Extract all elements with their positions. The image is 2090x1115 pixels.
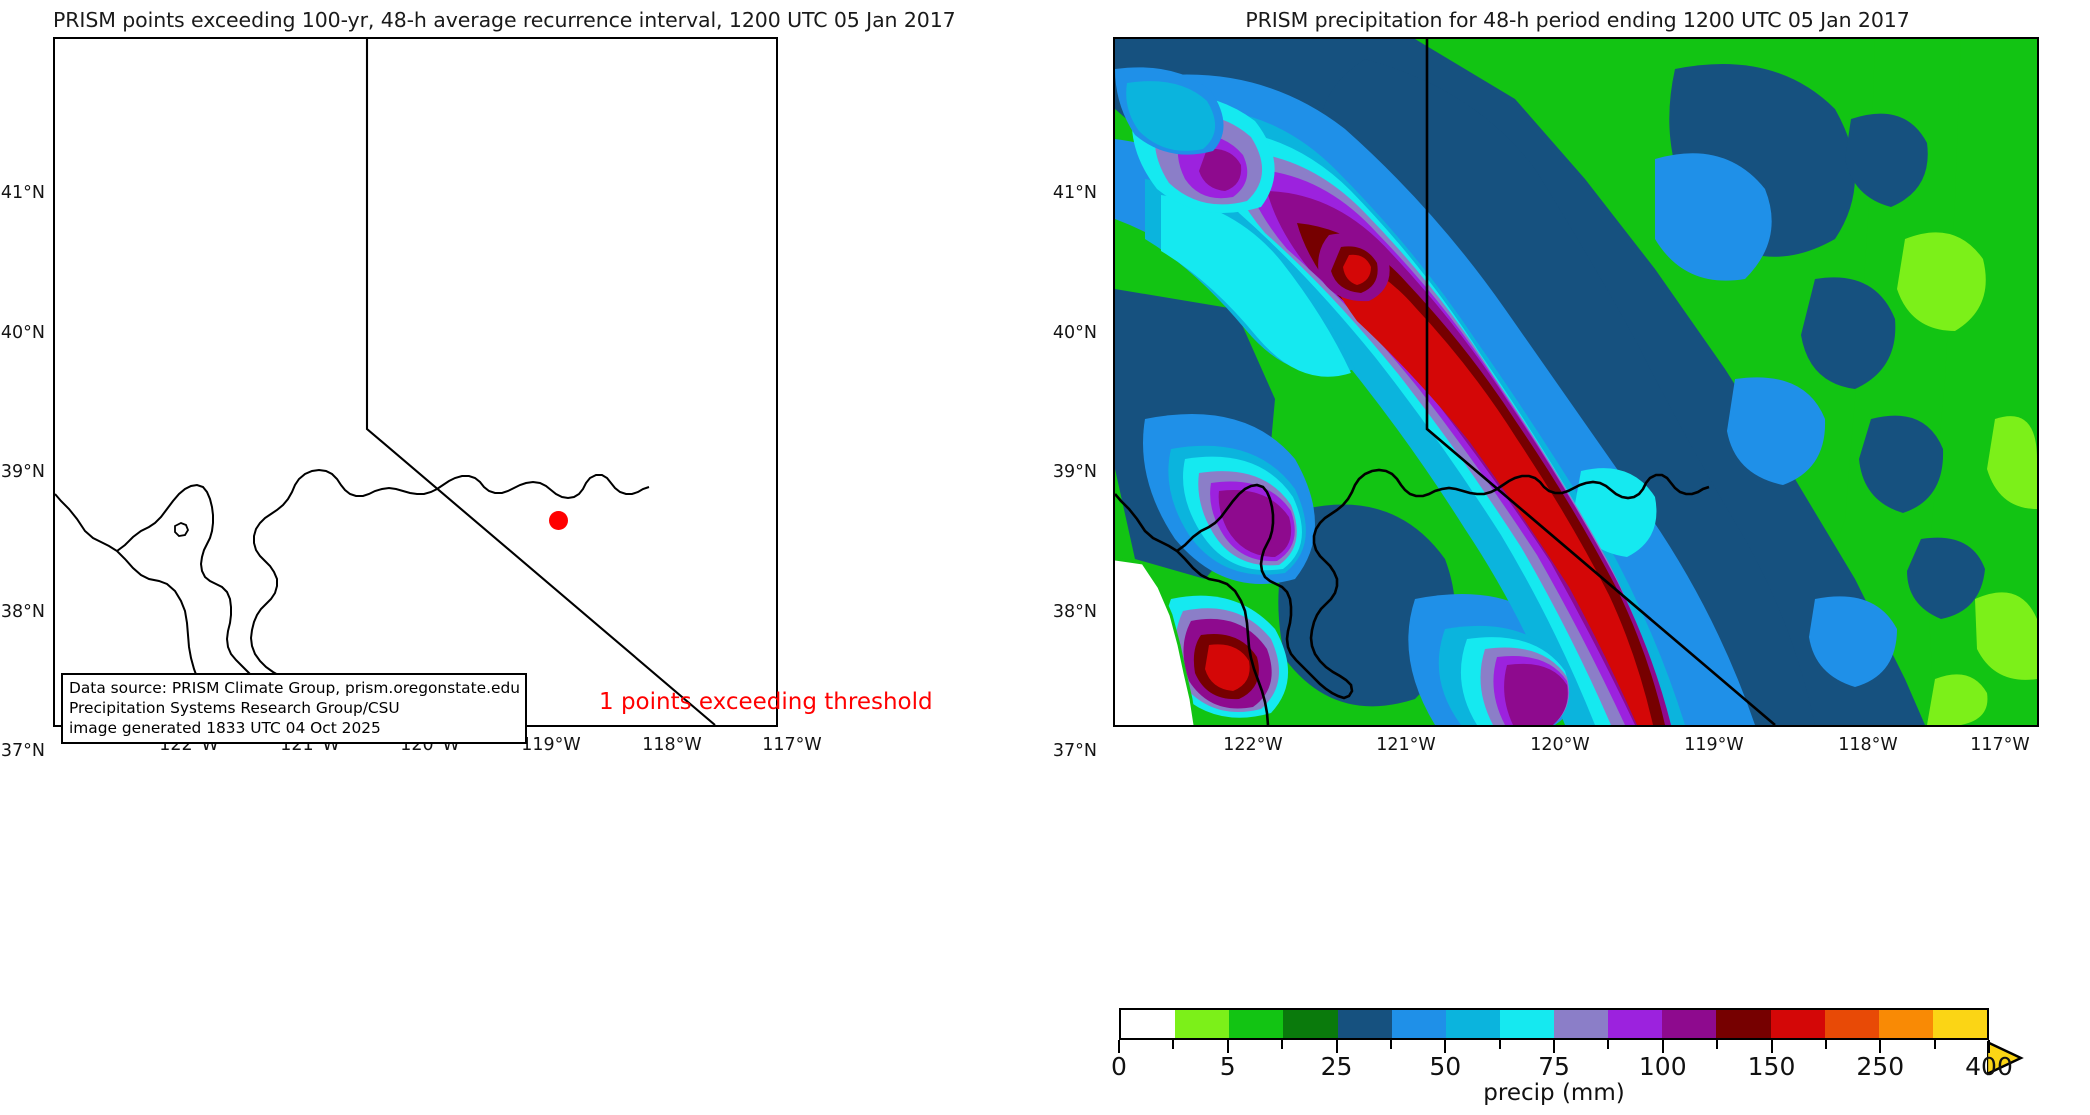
right-xtick-label: 117°W (1970, 735, 2029, 755)
left-ytick-label: 38°N (0, 602, 45, 622)
colorbar-tick (1281, 1040, 1283, 1049)
right-map-axes[interactable] (1113, 37, 2039, 727)
right-xtick-label: 121°W (1376, 735, 1435, 755)
colorbar-tick-label: 0 (1111, 1052, 1127, 1081)
left-panel-title: PRISM points exceeding 100-yr, 48-h aver… (53, 8, 778, 32)
colorbar-segment (1608, 1010, 1662, 1038)
colorbar[interactable]: 05255075100150250400 precip (mm) (1119, 1008, 2039, 1108)
colorbar-segment (1662, 1010, 1716, 1038)
colorbar-tick (1607, 1040, 1609, 1049)
attribution-box: Data source: PRISM Climate Group, prism.… (61, 673, 527, 744)
colorbar-tick-label: 75 (1538, 1052, 1570, 1081)
left-ytick-label: 37°N (0, 741, 45, 761)
left-map-axes[interactable] (53, 37, 778, 727)
left-xtick-label: 119°W (521, 735, 580, 755)
colorbar-segment (1933, 1010, 1987, 1038)
right-ytick-label: 38°N (1045, 602, 1097, 622)
left-xtick-label: 118°W (642, 735, 701, 755)
threshold-count-label: 1 points exceeding threshold (599, 689, 933, 715)
colorbar-tick-label: 25 (1321, 1052, 1353, 1081)
colorbar-tick-label: 100 (1639, 1052, 1687, 1081)
precipitation-contour-field (1115, 39, 2037, 725)
colorbar-tick (1716, 1040, 1718, 1049)
colorbar-tick (1499, 1040, 1501, 1049)
left-ytick-label: 40°N (0, 323, 45, 343)
right-ytick-label: 37°N (1045, 741, 1097, 761)
colorbar-title: precip (mm) (1483, 1080, 1624, 1106)
colorbar-segment (1392, 1010, 1446, 1038)
colorbar-tick-label: 50 (1429, 1052, 1461, 1081)
right-xtick-label: 118°W (1838, 735, 1897, 755)
colorbar-tick (1825, 1040, 1827, 1049)
state-border-line (367, 39, 715, 725)
colorbar-tick-label: 150 (1748, 1052, 1796, 1081)
right-ytick-label: 39°N (1045, 462, 1097, 482)
inner-bay-island (175, 523, 188, 536)
colorbar-segment (1283, 1010, 1337, 1038)
colorbar-segment (1229, 1010, 1283, 1038)
right-xtick-label: 122°W (1223, 735, 1282, 755)
colorbar-segment (1446, 1010, 1500, 1038)
colorbar-tick-label: 400 (1965, 1052, 2013, 1081)
colorbar-segment (1121, 1010, 1175, 1038)
right-panel-title: PRISM precipitation for 48-h period endi… (1115, 8, 2040, 32)
colorbar-gradient (1119, 1008, 1989, 1040)
colorbar-segment (1825, 1010, 1879, 1038)
left-xtick-label: 117°W (762, 735, 821, 755)
right-xtick-label: 119°W (1684, 735, 1743, 755)
right-xtick-label: 120°W (1530, 735, 1589, 755)
colorbar-tick-label: 5 (1220, 1052, 1236, 1081)
exceedance-marker[interactable] (549, 511, 568, 530)
colorbar-segment (1771, 1010, 1825, 1038)
right-ytick-label: 41°N (1045, 183, 1097, 203)
colorbar-tick (1390, 1040, 1392, 1049)
colorbar-segment (1175, 1010, 1229, 1038)
left-ytick-label: 41°N (0, 183, 45, 203)
left-map-geography (55, 39, 776, 725)
colorbar-tick (1172, 1040, 1174, 1049)
bay-delta-outline (117, 470, 649, 698)
colorbar-tick-label: 250 (1856, 1052, 1904, 1081)
right-ytick-label: 40°N (1045, 323, 1097, 343)
figure-canvas: PRISM points exceeding 100-yr, 48-h aver… (0, 0, 2090, 1115)
colorbar-segment (1500, 1010, 1554, 1038)
colorbar-segment (1554, 1010, 1608, 1038)
colorbar-segment (1338, 1010, 1392, 1038)
colorbar-segment (1716, 1010, 1770, 1038)
colorbar-tick (1934, 1040, 1936, 1049)
left-ytick-label: 39°N (0, 462, 45, 482)
colorbar-segment (1879, 1010, 1933, 1038)
